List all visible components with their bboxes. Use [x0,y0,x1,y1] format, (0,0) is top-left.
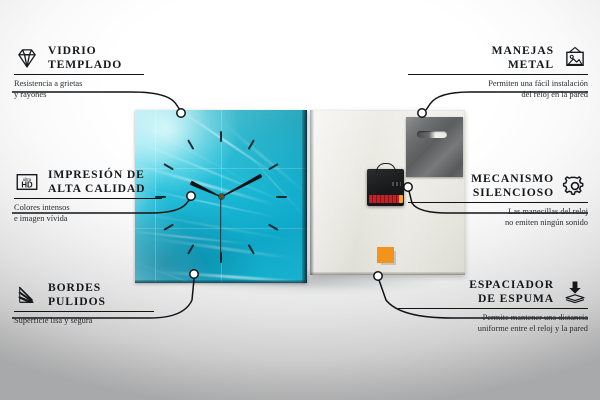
infographic-canvas: VIDRIO TEMPLADO Resistencia a grietas y … [0,0,600,400]
callout-rule [14,311,154,312]
callout-desc-line1: Colores intensos [14,203,189,213]
metal-hanger-plate [406,117,463,177]
clock-tick [220,131,222,142]
callout-header: VIDRIO TEMPLADO [14,44,174,71]
callout-desc-line1: Resistencia a grietas [14,79,174,89]
callout-title-line1: ESPACIADOR [469,278,554,292]
callout-desc-line1: Permiten una fácil instalación [408,79,588,89]
callout-header: MECANISMO SILENCIOSO [408,172,588,199]
callout-vidrio-templado: VIDRIO TEMPLADO Resistencia a grietas y … [14,44,174,100]
diamond-icon [14,45,40,71]
clock-second-hand [220,197,221,259]
ultra-hd-icon: ultra HD [14,169,40,195]
clock-tick [248,244,255,255]
callout-title-line1: IMPRESIÓN DE [48,168,145,182]
callout-desc-line1: Superficie lisa y segura [14,316,179,326]
callout-description: Permiten una fácil instalación del reloj… [408,79,588,100]
clock-tick [187,139,194,150]
clock-minute-hand [220,173,263,198]
mechanism-hanging-loop [376,163,396,173]
callout-description: Resistencia a grietas y rayones [14,79,174,100]
gear-icon [562,173,588,199]
svg-text:HD: HD [21,180,33,189]
callout-title-line2: ALTA CALIDAD [48,182,145,196]
callout-rule [398,308,588,309]
clock-tick [268,163,279,170]
callout-desc-line2: uniforme entre el reloj y la pared [398,324,588,334]
callout-desc-line2: e imagen vívida [14,214,189,224]
callout-title-line2: METAL [492,58,554,72]
callout-desc-line2: y rayones [14,90,174,100]
clock-tick [248,139,255,150]
callout-description: Colores intensos e imagen vívida [14,203,189,224]
callout-rule [408,74,588,75]
foam-spacer [377,247,394,263]
polished-edges-icon [14,282,40,308]
quartz-mechanism-box [367,169,404,206]
callout-espaciador-espuma: ESPACIADOR DE ESPUMA Permite mantener un… [398,278,588,334]
callout-title-line1: VIDRIO [48,44,122,58]
mechanism-label [392,182,401,186]
clock-tick [268,223,279,230]
callout-rule [408,202,588,203]
callout-impresion-alta-calidad: ultra HD IMPRESIÓN DE ALTA CALIDAD Color… [14,168,189,224]
hanging-frame-icon [562,45,588,71]
callout-title-line1: BORDES [48,281,106,295]
callout-title-line2: SILENCIOSO [471,186,554,200]
callout-title-line1: MANEJAS [492,44,554,58]
callout-bordes-pulidos: BORDES PULIDOS Superficie lisa y segura [14,281,179,327]
callout-manejas-metal: MANEJAS METAL Permiten una fácil instala… [408,44,588,100]
callout-rule [14,74,144,75]
callout-desc-line2: no emiten ningún sonido [408,218,588,228]
hanger-keyhole-slot [417,131,447,138]
callout-desc-line2: del reloj en la pared [408,90,588,100]
callout-description: Permite mantener una distancia uniforme … [398,313,588,334]
callout-header: ESPACIADOR DE ESPUMA [398,278,588,305]
callout-description: Las manecillas del reloj no emiten ningú… [408,207,588,228]
callout-description: Superficie lisa y segura [14,316,179,326]
callout-title-line1: MECANISMO [471,172,554,186]
front-panel-right-edge [302,110,307,283]
callout-title-line2: TEMPLADO [48,58,122,72]
callout-rule [14,198,162,199]
callout-mecanismo-silencioso: MECANISMO SILENCIOSO Las manecillas del … [408,172,588,228]
back-panel-bottom-edge [310,272,465,275]
battery [369,195,400,203]
callout-desc-line1: Permite mantener una distancia [398,313,588,323]
callout-header: BORDES PULIDOS [14,281,179,308]
callout-header: ultra HD IMPRESIÓN DE ALTA CALIDAD [14,168,189,195]
clock-hour-hand [189,180,222,199]
callout-title-line2: DE ESPUMA [469,292,554,306]
clock-tick [187,244,194,255]
battery-terminal [399,195,403,203]
callout-title-line2: PULIDOS [48,295,106,309]
callout-header: MANEJAS METAL [408,44,588,71]
callout-desc-line1: Las manecillas del reloj [408,207,588,217]
clock-center-cap [219,194,224,199]
clock-tick [276,196,287,198]
foam-spacer-icon [562,279,588,305]
